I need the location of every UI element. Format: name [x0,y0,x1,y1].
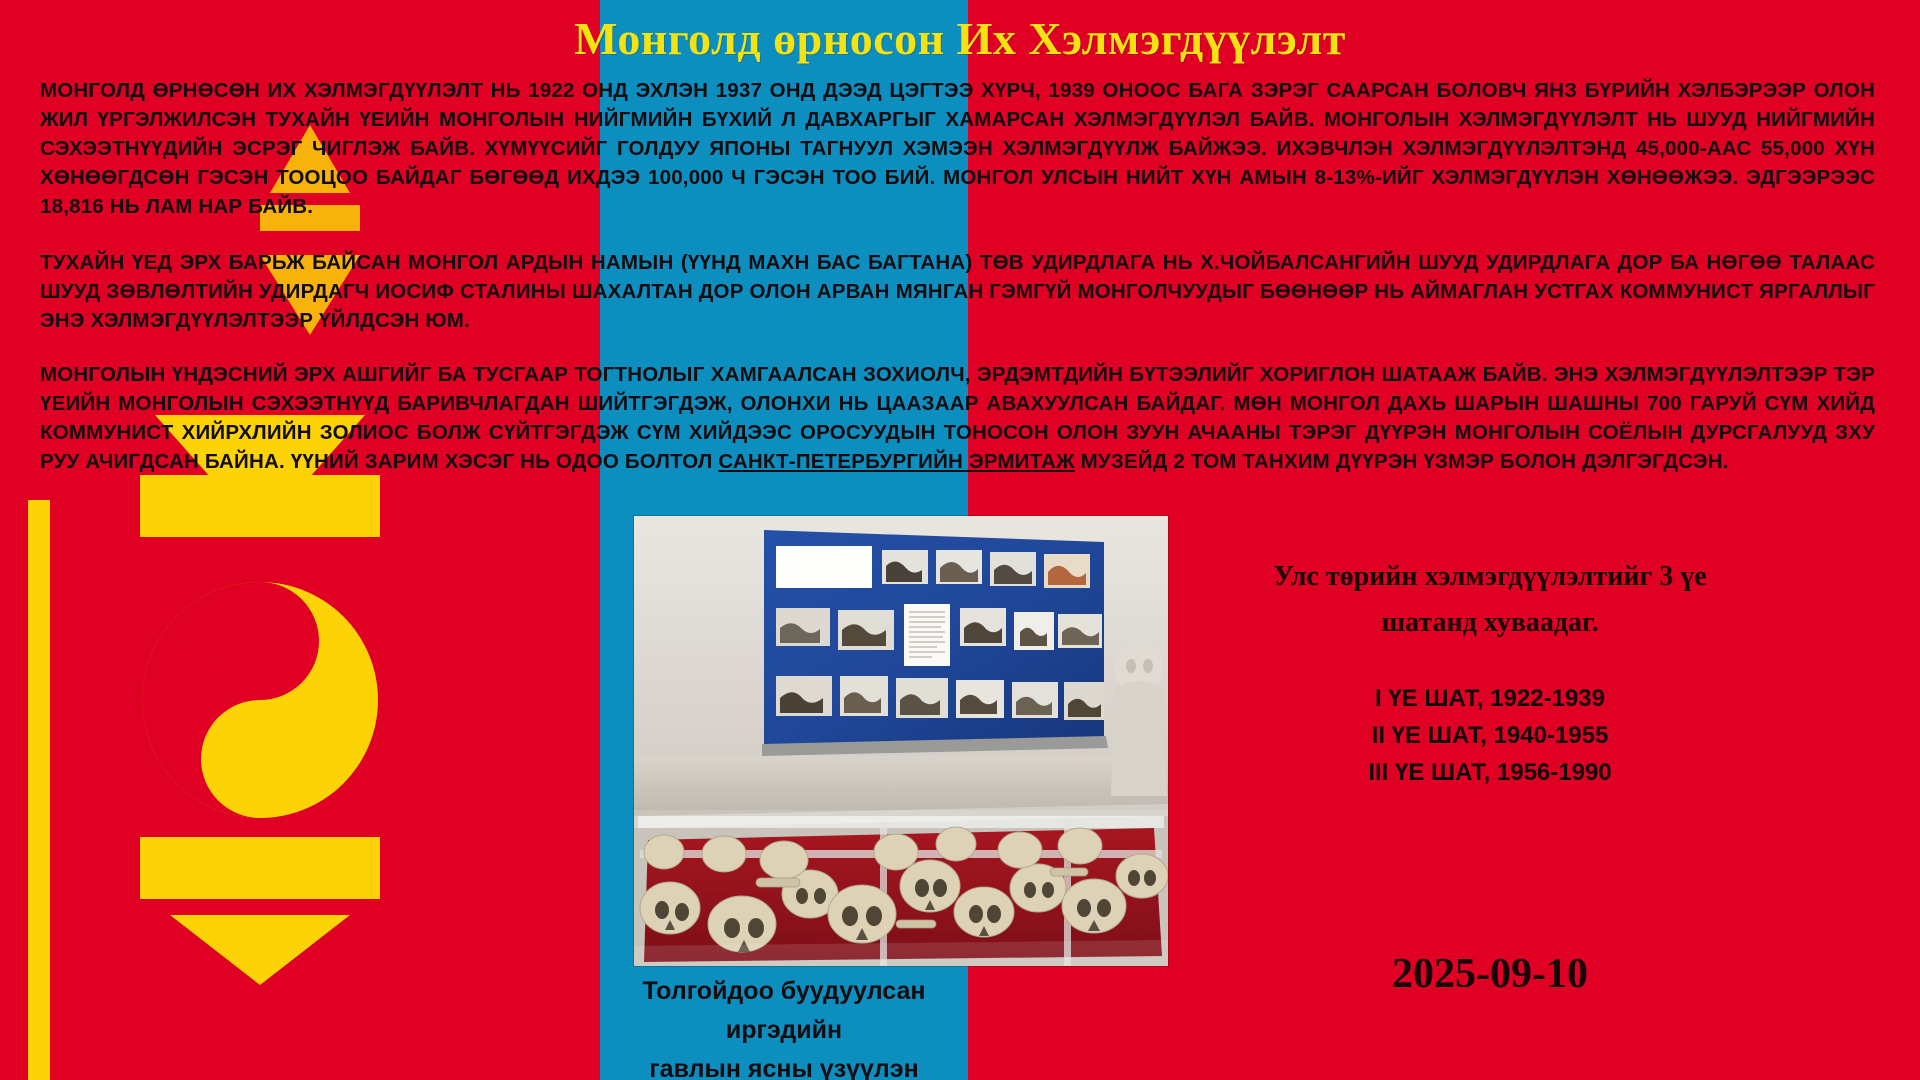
hermitage-museum-link[interactable]: САНКТ-ПЕТЕРБУРГИЙН ЭРМИТАЖ [718,450,1074,473]
museum-exhibit-photo [634,516,1168,966]
page-title: Монголд өрносон Их Хэлмэгдүүлэлт [0,12,1920,65]
soyombo-symbol-icon [60,415,460,985]
photo-caption: Толгойдоо буудуулсан иргэдийн гавлын ясн… [600,972,968,1080]
photo-caption-line-1: Толгойдоо буудуулсан иргэдийн [600,972,968,1050]
paragraph-1-text: МОНГОЛД ӨРНӨСӨН ИХ ХЭЛМЭГДҮҮЛЭЛТ НЬ 1922… [40,76,1875,221]
stages-list: I ҮЕ ШАТ, 1922-1939 II ҮЕ ШАТ, 1940-1955… [1210,680,1770,791]
date-label: 2025-09-10 [1210,950,1770,998]
stages-intro-line-2: шатанд хуваадаг. [1210,600,1770,646]
left-accent-bar [28,500,50,1080]
stages-intro: Улс төрийн хэлмэгдүүлэлтийг 3 үе шатанд … [1210,554,1770,646]
slide-canvas: Монголд өрносон Их Хэлмэгдүүлэлт МОНГОЛД… [0,0,1920,1080]
body-paragraph-2: ТУХАЙН ҮЕД ЭРХ БАРЬЖ БАЙСАН МОНГОЛ АРДЫН… [40,248,1875,335]
photo-caption-line-2: гавлын ясны үзүүлэн [600,1050,968,1080]
stage-item-1: I ҮЕ ШАТ, 1922-1939 [1210,680,1770,717]
stage-item-3: III ҮЕ ШАТ, 1956-1990 [1210,754,1770,791]
stages-intro-line-1: Улс төрийн хэлмэгдүүлэлтийг 3 үе [1210,554,1770,600]
paragraph-3-text: МОНГОЛЫН ҮНДЭСНИЙ ЭРХ АШГИЙГ БА ТУСГААР … [40,360,1875,476]
body-paragraph-3: МОНГОЛЫН ҮНДЭСНИЙ ЭРХ АШГИЙГ БА ТУСГААР … [40,360,1875,476]
body-paragraph-1: МОНГОЛД ӨРНӨСӨН ИХ ХЭЛМЭГДҮҮЛЭЛТ НЬ 1922… [40,76,1875,221]
paragraph-2-text: ТУХАЙН ҮЕД ЭРХ БАРЬЖ БАЙСАН МОНГОЛ АРДЫН… [40,248,1875,335]
stage-item-2: II ҮЕ ШАТ, 1940-1955 [1210,717,1770,754]
paragraph-3-after-link: МУЗЕЙД 2 ТОМ ТАНХИМ ДҮҮРЭН ҮЗМЭР БОЛОН Д… [1075,450,1729,473]
